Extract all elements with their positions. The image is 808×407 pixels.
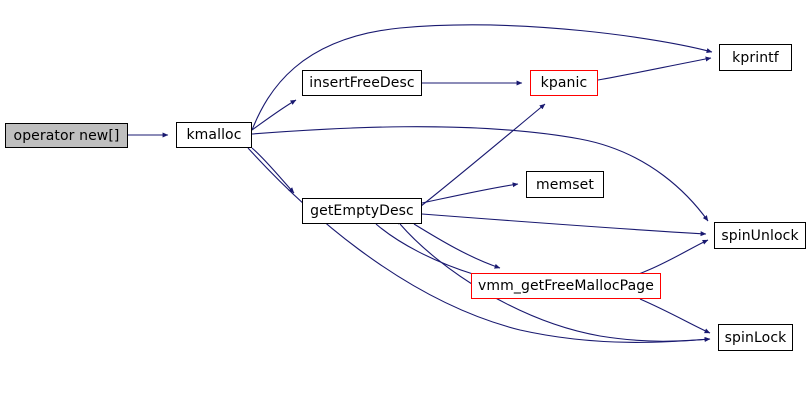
node-label: getEmptyDesc [310, 204, 414, 218]
node-kpanic[interactable]: kpanic [530, 70, 598, 96]
edge-kpanic-to-kprintf [598, 58, 711, 80]
node-spin-lock[interactable]: spinLock [718, 324, 793, 351]
node-label: spinUnlock [721, 229, 798, 243]
edge-kmalloc-to-getEmptyDesc [252, 148, 294, 193]
node-memset[interactable]: memset [526, 171, 604, 198]
node-kprintf[interactable]: kprintf [719, 44, 792, 71]
edge-vmm_getFreeMallocPage-to-spinLock [640, 299, 710, 333]
node-kmalloc[interactable]: kmalloc [176, 122, 252, 148]
node-vmm-get-free-malloc-page[interactable]: vmm_getFreeMallocPage [471, 273, 661, 299]
node-operator-new[interactable]: operator new[] [5, 123, 128, 148]
node-label: insertFreeDesc [309, 76, 414, 90]
node-get-empty-desc[interactable]: getEmptyDesc [302, 198, 422, 224]
call-graph-canvas: operator new[] kmalloc insertFreeDesc kp… [0, 0, 808, 407]
edge-kmalloc-to-spinLock [248, 148, 710, 342]
node-spin-unlock[interactable]: spinUnlock [714, 222, 806, 249]
node-label: operator new[] [14, 129, 120, 143]
edge-getEmptyDesc-to-spinUnlock [422, 214, 706, 234]
node-label: kmalloc [186, 128, 241, 142]
node-label: kprintf [732, 51, 779, 65]
node-label: kpanic [541, 76, 588, 90]
node-label: vmm_getFreeMallocPage [478, 279, 654, 293]
node-label: spinLock [725, 331, 787, 345]
node-insert-free-desc[interactable]: insertFreeDesc [302, 70, 422, 96]
node-label: memset [536, 178, 594, 192]
edge-getEmptyDesc-to-vmm_getFreeMallocPage [414, 224, 500, 268]
